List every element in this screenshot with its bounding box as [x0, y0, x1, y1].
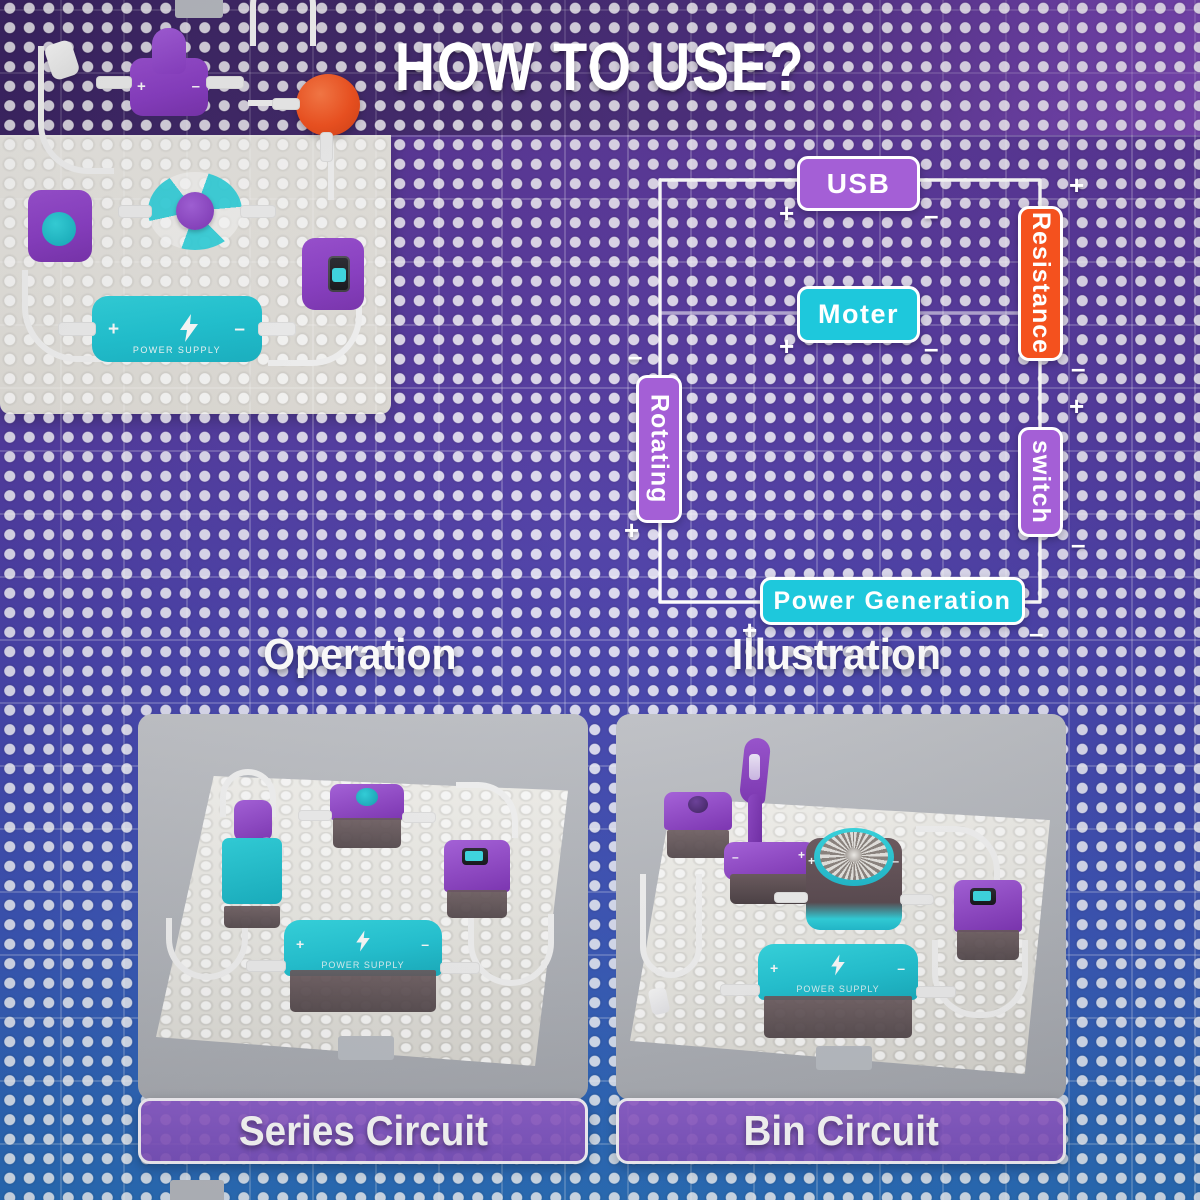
- node-label-moter: Moter: [818, 299, 899, 330]
- series-plug-ps-right: [440, 962, 480, 974]
- node-label-rotating: Rotating: [645, 394, 674, 503]
- caption-bin-label: Bin Circuit: [743, 1107, 938, 1155]
- rotating-minus-sign: –: [628, 343, 642, 369]
- plug-fan-right: [240, 205, 276, 218]
- series-ps-plus: +: [296, 936, 305, 952]
- series-fan-top: [222, 838, 282, 904]
- powergen-plus-sign: +: [742, 617, 757, 643]
- power-supply-label: POWER SUPPLY: [92, 345, 262, 355]
- bin-plug-turbine-right: [900, 894, 934, 905]
- plug-ps-right: [258, 322, 296, 336]
- moter-minus-sign: –: [924, 335, 938, 361]
- bin-button-base: [667, 830, 730, 858]
- infographic-page: HOW TO USE? + –: [0, 0, 1200, 1200]
- series-power-supply: + – POWER SUPPLY: [284, 920, 442, 1012]
- bin-turbine-module: + –: [806, 824, 902, 944]
- bin-board-tab: [816, 1046, 872, 1070]
- bin-switch-base: [957, 930, 1020, 960]
- bin-ps-label: POWER SUPPLY: [758, 984, 918, 994]
- series-ps-label: POWER SUPPLY: [284, 960, 442, 970]
- diagram-node-power-generation[interactable]: Power Generation: [760, 577, 1025, 625]
- bin-button-knob: [688, 796, 708, 813]
- fan-module: [148, 172, 242, 250]
- series-ps-minus: –: [421, 936, 430, 952]
- rotating-plus-sign: +: [624, 517, 639, 543]
- series-plug-buzzer-left: [298, 810, 332, 821]
- resistance-plus-sign: +: [1069, 172, 1084, 198]
- diagram-node-moter[interactable]: Moter: [797, 286, 920, 343]
- moter-plus-sign: +: [779, 333, 794, 359]
- powergen-minus-sign: –: [1029, 620, 1043, 646]
- power-supply-module: + – POWER SUPPLY: [92, 296, 262, 362]
- bin-turbine-plus: +: [808, 854, 816, 868]
- ps-plus: +: [108, 319, 120, 341]
- page-title: HOW TO USE?: [108, 0, 1092, 135]
- header-banner: HOW TO USE?: [0, 0, 1200, 135]
- bin-plug-ps-left: [720, 984, 760, 996]
- caption-bar-series: Series Circuit: [138, 1098, 588, 1164]
- series-buzzer-module: [330, 784, 404, 848]
- bin-switch-module: [954, 880, 1022, 960]
- bin-ps-base: [764, 996, 911, 1038]
- bin-lamp-plus: +: [798, 848, 806, 862]
- bin-ps-minus: –: [897, 960, 906, 976]
- fan-hub: [176, 192, 214, 230]
- caption-illustration: Illustration: [732, 630, 941, 680]
- node-label-switch: switch: [1026, 440, 1055, 524]
- caption-bar-bin: Bin Circuit: [616, 1098, 1066, 1164]
- switch-plus-sign: +: [1069, 393, 1084, 419]
- series-switch-base: [447, 890, 508, 918]
- bin-plug-ps-right: [916, 986, 956, 998]
- bin-ps-plus: +: [770, 960, 779, 976]
- usb-minus-sign: –: [924, 202, 938, 228]
- series-fan-knob: [234, 800, 272, 842]
- diagram-node-rotating[interactable]: Rotating: [636, 375, 682, 523]
- plug-fan-left: [118, 205, 152, 218]
- series-fan-base: [224, 906, 279, 928]
- series-switch-lever: [465, 851, 483, 861]
- ps-minus: –: [234, 319, 246, 341]
- series-buzzer-base: [333, 818, 401, 848]
- plug-buzzer-bottom: [320, 132, 333, 162]
- series-switch-module: [444, 840, 510, 918]
- diagram-node-switch[interactable]: switch: [1018, 427, 1063, 537]
- bin-lamp-module: – +: [724, 738, 816, 884]
- caption-operation: Operation: [263, 630, 456, 680]
- meter-module: [28, 190, 92, 262]
- bin-plug-turbine-left: [774, 892, 808, 903]
- series-circuit-photo: + – POWER SUPPLY: [138, 714, 588, 1100]
- bin-turbine-minus: –: [892, 854, 900, 868]
- node-label-usb: USB: [827, 168, 891, 200]
- node-label-resistance: Resistance: [1026, 212, 1055, 354]
- series-buzzer-dial: [356, 788, 378, 806]
- bin-lamp-bulb: [749, 754, 760, 780]
- bin-turbine-hub: [846, 848, 862, 862]
- resistance-minus-sign: –: [1071, 355, 1085, 381]
- bin-button-module: [664, 792, 732, 858]
- bin-bolt-icon: [829, 954, 847, 981]
- series-ps-base: [290, 970, 435, 1012]
- node-label-power-generation: Power Generation: [774, 587, 1012, 616]
- switch-module: [302, 238, 364, 310]
- bin-switch-lever: [973, 891, 991, 901]
- series-plug-buzzer-right: [402, 812, 436, 823]
- usb-plus-sign: +: [779, 200, 794, 226]
- plug-ps-left: [58, 322, 96, 336]
- series-plug-ps-left: [246, 960, 286, 972]
- series-fan-module: [222, 818, 282, 928]
- bin-lamp-minus: –: [732, 850, 740, 864]
- series-board-tab: [338, 1036, 394, 1060]
- caption-series-label: Series Circuit: [238, 1107, 487, 1155]
- series-bolt-icon: [354, 930, 372, 957]
- bin-circuit-photo: – + + – + – P: [616, 714, 1066, 1100]
- meter-dial: [42, 212, 76, 246]
- board-tab-bottom: [170, 1180, 224, 1200]
- diagram-node-usb[interactable]: USB: [797, 156, 920, 211]
- diagram-node-resistance[interactable]: Resistance: [1018, 206, 1063, 361]
- switch-minus-sign: –: [1071, 531, 1085, 557]
- switch-toggle-lever: [332, 268, 346, 282]
- circuit-illustration-diagram: USB + – Moter + – Resistance + – switch …: [612, 150, 1132, 640]
- bin-power-supply: + – POWER SUPPLY: [758, 944, 918, 1038]
- bin-wire-left-loop: [640, 874, 702, 978]
